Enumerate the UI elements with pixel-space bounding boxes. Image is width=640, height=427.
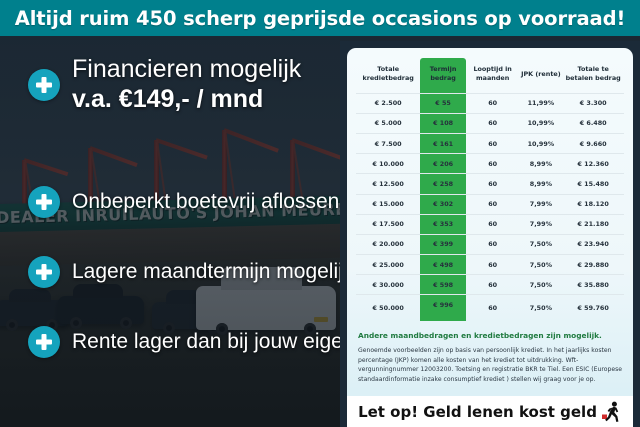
cell-looptijd: 60: [466, 295, 520, 321]
cell-looptijd: 60: [466, 214, 520, 234]
cell-jkp: 10,99%: [519, 133, 562, 153]
cell-totaal: € 18.120: [562, 194, 624, 214]
cell-looptijd: 60: [466, 174, 520, 194]
note-title: Andere maandbedragen en kredietbedragen …: [358, 331, 622, 341]
plus-circle-icon: [28, 256, 60, 288]
feature-text: Financieren mogelijk v.a. €149,- / mnd: [72, 56, 301, 114]
cell-totaal: € 23.940: [562, 234, 624, 254]
table-row: € 10.000€ 206608,99%€ 12.360: [356, 154, 624, 174]
warning-bar: Let op! Geld lenen kost geld: [347, 396, 633, 427]
feature-label: Onbeperkt boetevrij aflossen: [72, 190, 339, 213]
table-row: € 12.500€ 258608,99%€ 15.480: [356, 174, 624, 194]
cell-krediet: € 10.000: [356, 154, 420, 174]
running-man-icon: [602, 401, 622, 423]
cell-jkp: 7,50%: [519, 295, 562, 321]
cell-krediet: € 20.000: [356, 234, 420, 254]
cell-totaal: € 9.660: [562, 133, 624, 153]
feature-item-maandtermijn: Lagere maandtermijn mogelijk: [28, 256, 353, 288]
feature-item-financieren: Financieren mogelijk v.a. €149,- / mnd: [28, 56, 301, 114]
column-header-termijn: Termijn bedrag: [420, 58, 466, 93]
feature-item-aflossen: Onbeperkt boetevrij aflossen: [28, 186, 339, 218]
table-header-row: Totale kredietbedrag Termijn bedrag Loop…: [356, 58, 624, 93]
cell-looptijd: 60: [466, 194, 520, 214]
table-row: € 15.000€ 302607,99%€ 18.120: [356, 194, 624, 214]
feature-line-1: Financieren mogelijk: [72, 55, 301, 83]
cell-totaal: € 21.180: [562, 214, 624, 234]
feature-line-2: v.a. €149,- / mnd: [72, 85, 263, 113]
plus-circle-icon: [28, 186, 60, 218]
cell-totaal: € 6.480: [562, 113, 624, 133]
cell-jkp: 7,50%: [519, 275, 562, 295]
cell-termijn: € 996: [420, 295, 466, 321]
table-row: € 30.000€ 598607,50%€ 35.880: [356, 275, 624, 295]
cell-looptijd: 60: [466, 234, 520, 254]
column-header-looptijd: Looptijd in maanden: [466, 58, 520, 93]
cell-krediet: € 7.500: [356, 133, 420, 153]
warning-text: Let op! Geld lenen kost geld: [358, 403, 597, 421]
rates-card: Totale kredietbedrag Termijn bedrag Loop…: [347, 48, 633, 427]
cell-jkp: 8,99%: [519, 154, 562, 174]
cell-looptijd: 60: [466, 154, 520, 174]
cell-totaal: € 59.760: [562, 295, 624, 321]
column-header-jkp: JPK (rente): [519, 58, 562, 93]
cell-jkp: 8,99%: [519, 174, 562, 194]
cell-termijn: € 353: [420, 214, 466, 234]
table-row: € 2.500€ 556011,99%€ 3.300: [356, 93, 624, 113]
cell-termijn: € 108: [420, 113, 466, 133]
cell-krediet: € 12.500: [356, 174, 420, 194]
cell-termijn: € 302: [420, 194, 466, 214]
cell-looptijd: 60: [466, 255, 520, 275]
cell-jkp: 7,99%: [519, 214, 562, 234]
cell-krediet: € 15.000: [356, 194, 420, 214]
table-row: € 25.000€ 498607,50%€ 29.880: [356, 255, 624, 275]
table-row: € 20.000€ 399607,50%€ 23.940: [356, 234, 624, 254]
feature-label: Lagere maandtermijn mogelijk: [72, 260, 353, 283]
cell-jkp: 10,99%: [519, 113, 562, 133]
cell-krediet: € 17.500: [356, 214, 420, 234]
cell-termijn: € 399: [420, 234, 466, 254]
column-header-totaal: Totale te betalen bedrag: [562, 58, 624, 93]
cell-totaal: € 35.880: [562, 275, 624, 295]
cell-krediet: € 5.000: [356, 113, 420, 133]
cell-krediet: € 25.000: [356, 255, 420, 275]
cell-looptijd: 60: [466, 113, 520, 133]
cell-jkp: 7,50%: [519, 255, 562, 275]
cell-totaal: € 29.880: [562, 255, 624, 275]
feature-list: Financieren mogelijk v.a. €149,- / mnd O…: [0, 40, 345, 420]
cell-termijn: € 55: [420, 93, 466, 113]
cell-krediet: € 50.000: [356, 295, 420, 321]
promo-banner-image: DEALER INRUILAUTO'S JOHAN MEURE ALTIJD 4…: [0, 0, 640, 427]
cell-jkp: 7,99%: [519, 194, 562, 214]
cell-jkp: 11,99%: [519, 93, 562, 113]
table-row: € 5.000€ 1086010,99%€ 6.480: [356, 113, 624, 133]
top-banner: Altijd ruim 450 scherp geprijsde occasio…: [0, 0, 640, 36]
cell-termijn: € 161: [420, 133, 466, 153]
cell-termijn: € 258: [420, 174, 466, 194]
cell-totaal: € 3.300: [562, 93, 624, 113]
cell-termijn: € 206: [420, 154, 466, 174]
note-body: Genoemde voorbeelden zijn op basis van p…: [358, 346, 622, 385]
table-row: € 50.000€ 996607,50%€ 59.760: [356, 295, 624, 321]
cell-termijn: € 498: [420, 255, 466, 275]
banner-headline: Altijd ruim 450 scherp geprijsde occasio…: [15, 7, 626, 30]
plus-circle-icon: [28, 69, 60, 101]
cell-totaal: € 12.360: [562, 154, 624, 174]
cell-looptijd: 60: [466, 275, 520, 295]
table-row: € 7.500€ 1616010,99%€ 9.660: [356, 133, 624, 153]
credit-rates-table: Totale kredietbedrag Termijn bedrag Loop…: [356, 58, 624, 321]
cell-looptijd: 60: [466, 133, 520, 153]
cell-krediet: € 2.500: [356, 93, 420, 113]
cell-jkp: 7,50%: [519, 234, 562, 254]
cell-looptijd: 60: [466, 93, 520, 113]
column-header-krediet: Totale kredietbedrag: [356, 58, 420, 93]
plus-circle-icon: [28, 326, 60, 358]
cell-termijn: € 598: [420, 275, 466, 295]
cell-totaal: € 15.480: [562, 174, 624, 194]
rates-panel: Totale kredietbedrag Termijn bedrag Loop…: [340, 41, 640, 427]
cell-krediet: € 30.000: [356, 275, 420, 295]
table-row: € 17.500€ 353607,99%€ 21.180: [356, 214, 624, 234]
